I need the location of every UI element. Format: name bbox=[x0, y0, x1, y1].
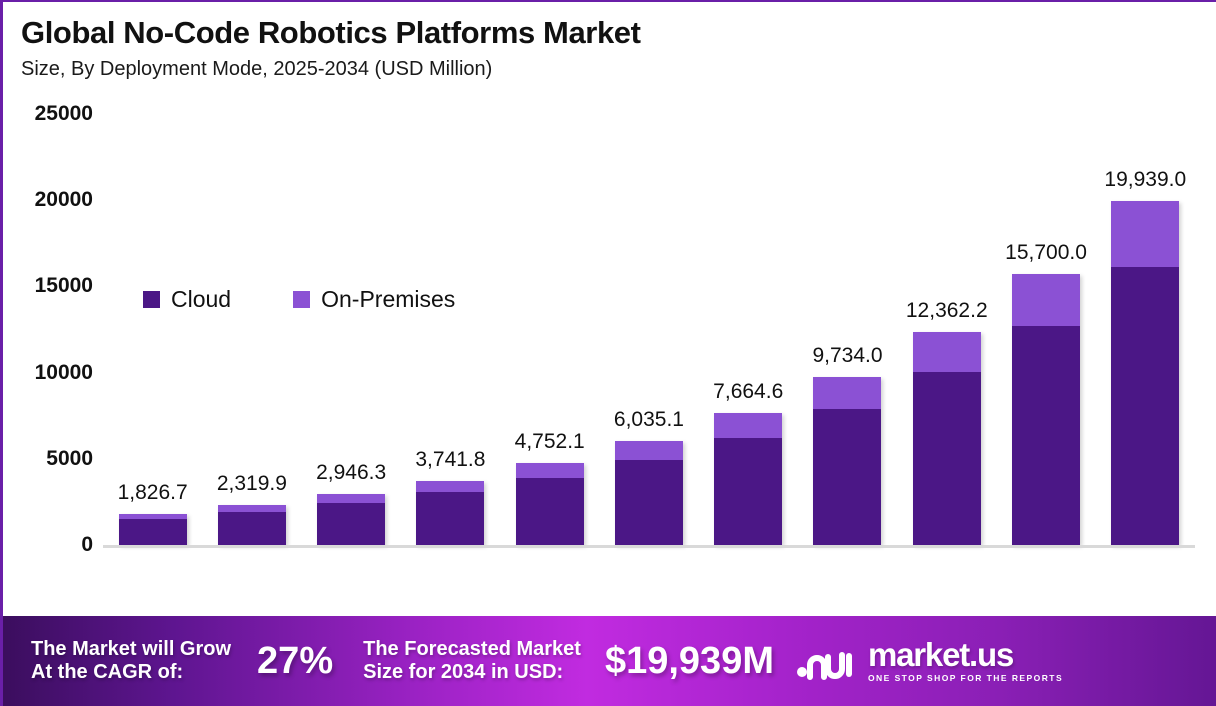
chart-title: Global No-Code Robotics Platforms Market bbox=[21, 16, 1201, 50]
bar-stack[interactable] bbox=[317, 494, 385, 545]
brand-name: market.us bbox=[868, 639, 1063, 670]
bar-stack[interactable] bbox=[913, 332, 981, 545]
bar-series-container: 1,826.72,319.92,946.33,741.84,752.16,035… bbox=[103, 114, 1195, 545]
forecast-caption-line2: Size for 2034 in USD: bbox=[363, 661, 581, 684]
legend-label: Cloud bbox=[171, 286, 231, 313]
bar-segment-on-premises[interactable] bbox=[913, 332, 981, 372]
bar-column[interactable]: 1,826.7 bbox=[119, 114, 187, 545]
y-axis: 0500010000150002000025000 bbox=[3, 114, 99, 546]
cagr-value: 27% bbox=[257, 640, 333, 683]
chart-subtitle: Size, By Deployment Mode, 2025-2034 (USD… bbox=[21, 58, 1201, 80]
bar-value-label: 15,700.0 bbox=[1005, 241, 1087, 265]
bar-stack[interactable] bbox=[119, 514, 187, 545]
bar-value-label: 7,664.6 bbox=[713, 380, 783, 404]
bar-stack[interactable] bbox=[516, 463, 584, 545]
chart-plot-area: 0500010000150002000025000 CloudOn-Premis… bbox=[3, 114, 1216, 602]
bar-column[interactable]: 12,362.2 bbox=[913, 114, 981, 545]
bar-value-label: 4,752.1 bbox=[515, 430, 585, 454]
bar-segment-cloud[interactable] bbox=[615, 460, 683, 545]
bar-stack[interactable] bbox=[615, 441, 683, 545]
bar-column[interactable]: 19,939.0 bbox=[1111, 114, 1179, 545]
brand-tagline: ONE STOP SHOP FOR THE REPORTS bbox=[868, 673, 1063, 683]
bar-segment-on-premises[interactable] bbox=[1111, 201, 1179, 266]
bar-segment-on-premises[interactable] bbox=[317, 494, 385, 503]
bar-segment-cloud[interactable] bbox=[913, 372, 981, 545]
bar-stack[interactable] bbox=[1111, 201, 1179, 545]
bar-value-label: 2,946.3 bbox=[316, 461, 386, 485]
bar-stack[interactable] bbox=[813, 377, 881, 545]
bar-segment-on-premises[interactable] bbox=[1012, 274, 1080, 325]
brand-logo: market.us ONE STOP SHOP FOR THE REPORTS bbox=[796, 639, 1063, 683]
bar-value-label: 19,939.0 bbox=[1104, 168, 1186, 192]
legend-label: On-Premises bbox=[321, 286, 455, 313]
bar-segment-cloud[interactable] bbox=[119, 519, 187, 545]
bar-segment-cloud[interactable] bbox=[516, 478, 584, 545]
bar-segment-cloud[interactable] bbox=[813, 409, 881, 545]
bar-column[interactable]: 15,700.0 bbox=[1012, 114, 1080, 545]
legend-swatch-icon bbox=[143, 291, 160, 308]
bar-value-label: 1,826.7 bbox=[118, 481, 188, 505]
bar-segment-cloud[interactable] bbox=[416, 492, 484, 545]
bar-segment-cloud[interactable] bbox=[1012, 326, 1080, 545]
bar-segment-on-premises[interactable] bbox=[516, 463, 584, 478]
market-us-logo-icon bbox=[796, 641, 858, 681]
bar-value-label: 12,362.2 bbox=[906, 299, 988, 323]
bar-value-label: 2,319.9 bbox=[217, 472, 287, 496]
bar-segment-cloud[interactable] bbox=[1111, 267, 1179, 545]
bar-segment-cloud[interactable] bbox=[218, 512, 286, 545]
y-axis-tick: 20000 bbox=[35, 188, 93, 212]
bar-segment-on-premises[interactable] bbox=[813, 377, 881, 409]
bar-column[interactable]: 2,946.3 bbox=[317, 114, 385, 545]
chart-header: Global No-Code Robotics Platforms Market… bbox=[21, 16, 1201, 80]
bar-stack[interactable] bbox=[1012, 274, 1080, 545]
bar-column[interactable]: 2,319.9 bbox=[218, 114, 286, 545]
y-axis-tick: 5000 bbox=[46, 447, 93, 471]
bar-segment-cloud[interactable] bbox=[714, 438, 782, 545]
y-axis-tick: 10000 bbox=[35, 361, 93, 385]
bar-stack[interactable] bbox=[416, 481, 484, 546]
bar-value-label: 3,741.8 bbox=[415, 448, 485, 472]
bar-column[interactable]: 7,664.6 bbox=[714, 114, 782, 545]
bar-segment-cloud[interactable] bbox=[317, 503, 385, 545]
chart-legend: CloudOn-Premises bbox=[143, 286, 455, 313]
infographic-frame: Global No-Code Robotics Platforms Market… bbox=[0, 0, 1216, 706]
bar-stack[interactable] bbox=[714, 413, 782, 545]
bar-segment-on-premises[interactable] bbox=[615, 441, 683, 460]
bar-column[interactable]: 4,752.1 bbox=[516, 114, 584, 545]
bar-column[interactable]: 3,741.8 bbox=[416, 114, 484, 545]
bar-segment-on-premises[interactable] bbox=[218, 505, 286, 512]
y-axis-tick: 15000 bbox=[35, 274, 93, 298]
footer-banner: The Market will Grow At the CAGR of: 27%… bbox=[3, 616, 1216, 706]
bar-value-label: 9,734.0 bbox=[812, 344, 882, 368]
cagr-caption: The Market will Grow At the CAGR of: bbox=[31, 638, 231, 684]
forecast-caption-line1: The Forecasted Market bbox=[363, 638, 581, 661]
legend-swatch-icon bbox=[293, 291, 310, 308]
legend-item-cloud[interactable]: Cloud bbox=[143, 286, 231, 313]
y-axis-tick: 25000 bbox=[35, 102, 93, 126]
bar-column[interactable]: 9,734.0 bbox=[813, 114, 881, 545]
cagr-caption-line1: The Market will Grow bbox=[31, 638, 231, 661]
forecast-caption: The Forecasted Market Size for 2034 in U… bbox=[363, 638, 581, 684]
bar-stack[interactable] bbox=[218, 505, 286, 545]
y-axis-tick: 0 bbox=[81, 533, 93, 557]
bar-segment-on-premises[interactable] bbox=[714, 413, 782, 438]
bar-segment-on-premises[interactable] bbox=[416, 481, 484, 492]
forecast-value: $19,939M bbox=[605, 640, 774, 683]
bar-column[interactable]: 6,035.1 bbox=[615, 114, 683, 545]
brand-text: market.us ONE STOP SHOP FOR THE REPORTS bbox=[868, 639, 1063, 683]
cagr-caption-line2: At the CAGR of: bbox=[31, 661, 231, 684]
bar-value-label: 6,035.1 bbox=[614, 408, 684, 432]
x-axis-baseline bbox=[103, 545, 1195, 548]
legend-item-onprem[interactable]: On-Premises bbox=[293, 286, 455, 313]
